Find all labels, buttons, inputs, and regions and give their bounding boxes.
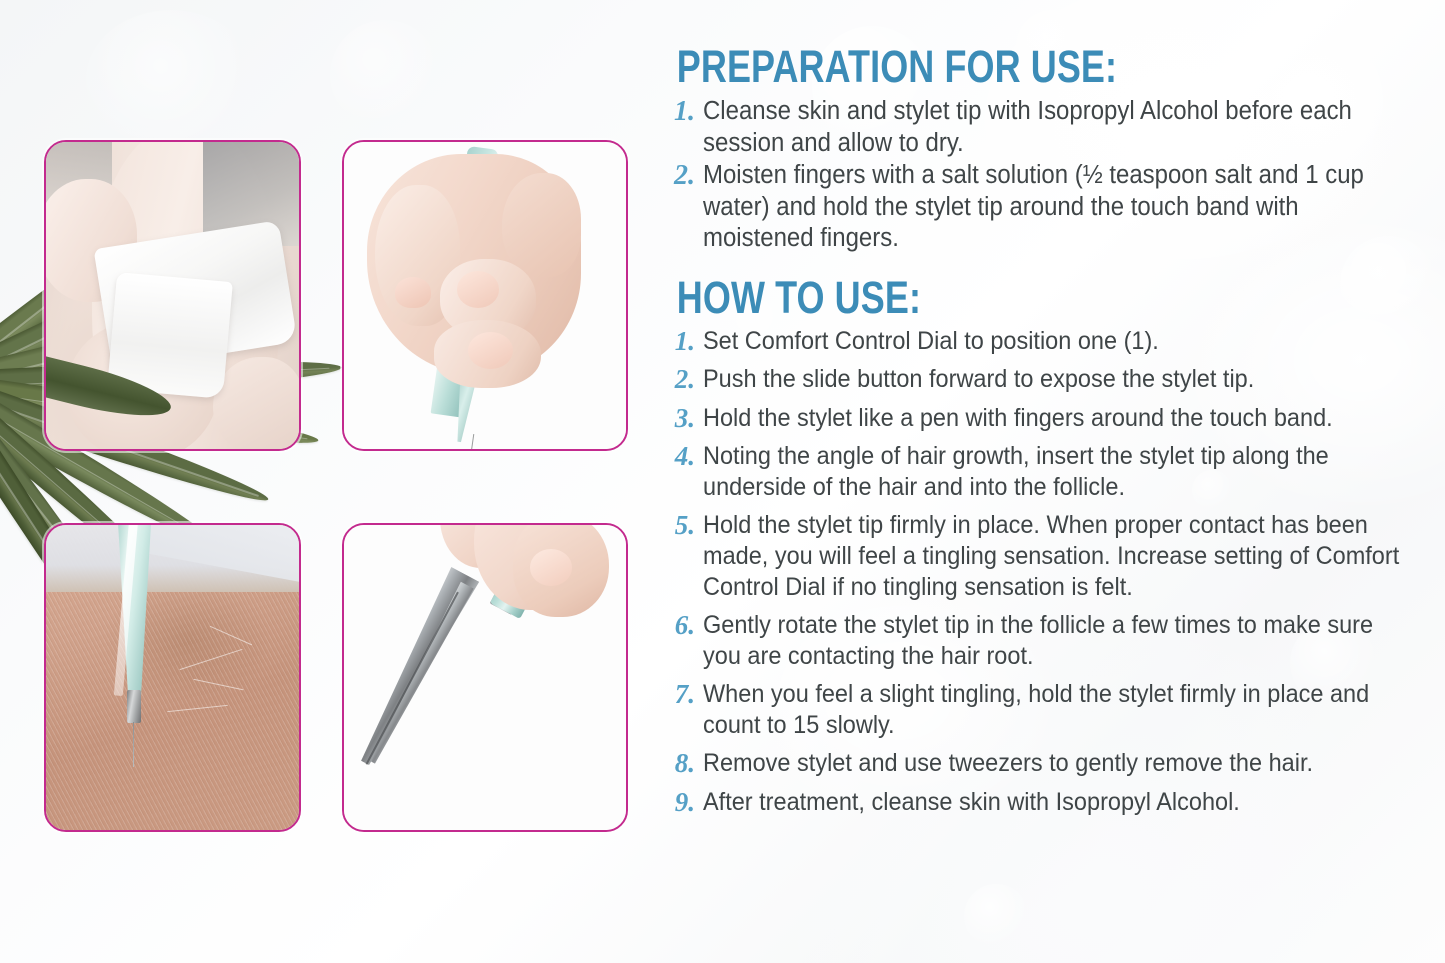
step-number: 9.: [664, 787, 695, 819]
list-item: 4. Noting the angle of hair growth, inse…: [664, 441, 1445, 503]
step-number: 1.: [664, 326, 695, 358]
step-text: Remove stylet and use tweezers to gently…: [703, 748, 1400, 779]
how-to-use-steps-list: 1. Set Comfort Control Dial to position …: [664, 326, 1445, 819]
list-item: 8. Remove stylet and use tweezers to gen…: [664, 748, 1445, 780]
step-text: When you feel a slight tingling, hold th…: [703, 679, 1400, 741]
list-item: 6. Gently rotate the stylet tip in the f…: [664, 610, 1445, 672]
step-text: Hold the stylet tip firmly in place. Whe…: [703, 510, 1400, 603]
step-number: 5.: [664, 510, 695, 542]
photo-hold-stylet-like-pen: [342, 140, 628, 451]
photo-tweezers: [342, 523, 628, 832]
list-item: 9. After treatment, cleanse skin with Is…: [664, 787, 1445, 819]
step-number: 6.: [664, 610, 695, 642]
step-number: 3.: [664, 403, 695, 435]
step-text: Moisten fingers with a salt solution (½ …: [703, 160, 1400, 255]
infographic-page: PREPARATION FOR USE: 1. Cleanse skin and…: [0, 0, 1445, 963]
step-text: Noting the angle of hair growth, insert …: [703, 441, 1400, 503]
preparation-steps-list: 1. Cleanse skin and stylet tip with Isop…: [664, 96, 1445, 255]
step-number: 7.: [664, 679, 695, 711]
step-number: 1.: [664, 96, 695, 128]
list-item: 2. Moisten fingers with a salt solution …: [664, 160, 1445, 255]
list-item: 1. Cleanse skin and stylet tip with Isop…: [664, 96, 1445, 159]
step-text: After treatment, cleanse skin with Isopr…: [703, 787, 1400, 818]
step-number: 2.: [664, 364, 695, 396]
step-number: 2.: [664, 160, 695, 192]
instructions-column: PREPARATION FOR USE: 1. Cleanse skin and…: [664, 0, 1445, 963]
list-item: 7. When you feel a slight tingling, hold…: [664, 679, 1445, 741]
step-text: Cleanse skin and stylet tip with Isoprop…: [703, 96, 1400, 159]
preparation-heading: PREPARATION FOR USE:: [664, 44, 1289, 90]
list-item: 3. Hold the stylet like a pen with finge…: [664, 403, 1445, 435]
step-text: Gently rotate the stylet tip in the foll…: [703, 610, 1400, 672]
how-to-use-heading: HOW TO USE:: [664, 275, 1289, 321]
step-number: 8.: [664, 748, 695, 780]
step-number: 4.: [664, 441, 695, 473]
photo-cleanse-skin: [44, 140, 301, 451]
step-text: Push the slide button forward to expose …: [703, 364, 1400, 395]
step-text: Hold the stylet like a pen with fingers …: [703, 403, 1400, 434]
list-item: 5. Hold the stylet tip firmly in place. …: [664, 510, 1445, 603]
step-text: Set Comfort Control Dial to position one…: [703, 326, 1400, 357]
list-item: 1. Set Comfort Control Dial to position …: [664, 326, 1445, 358]
photo-stylet-tip-on-skin: [44, 523, 301, 832]
list-item: 2. Push the slide button forward to expo…: [664, 364, 1445, 396]
